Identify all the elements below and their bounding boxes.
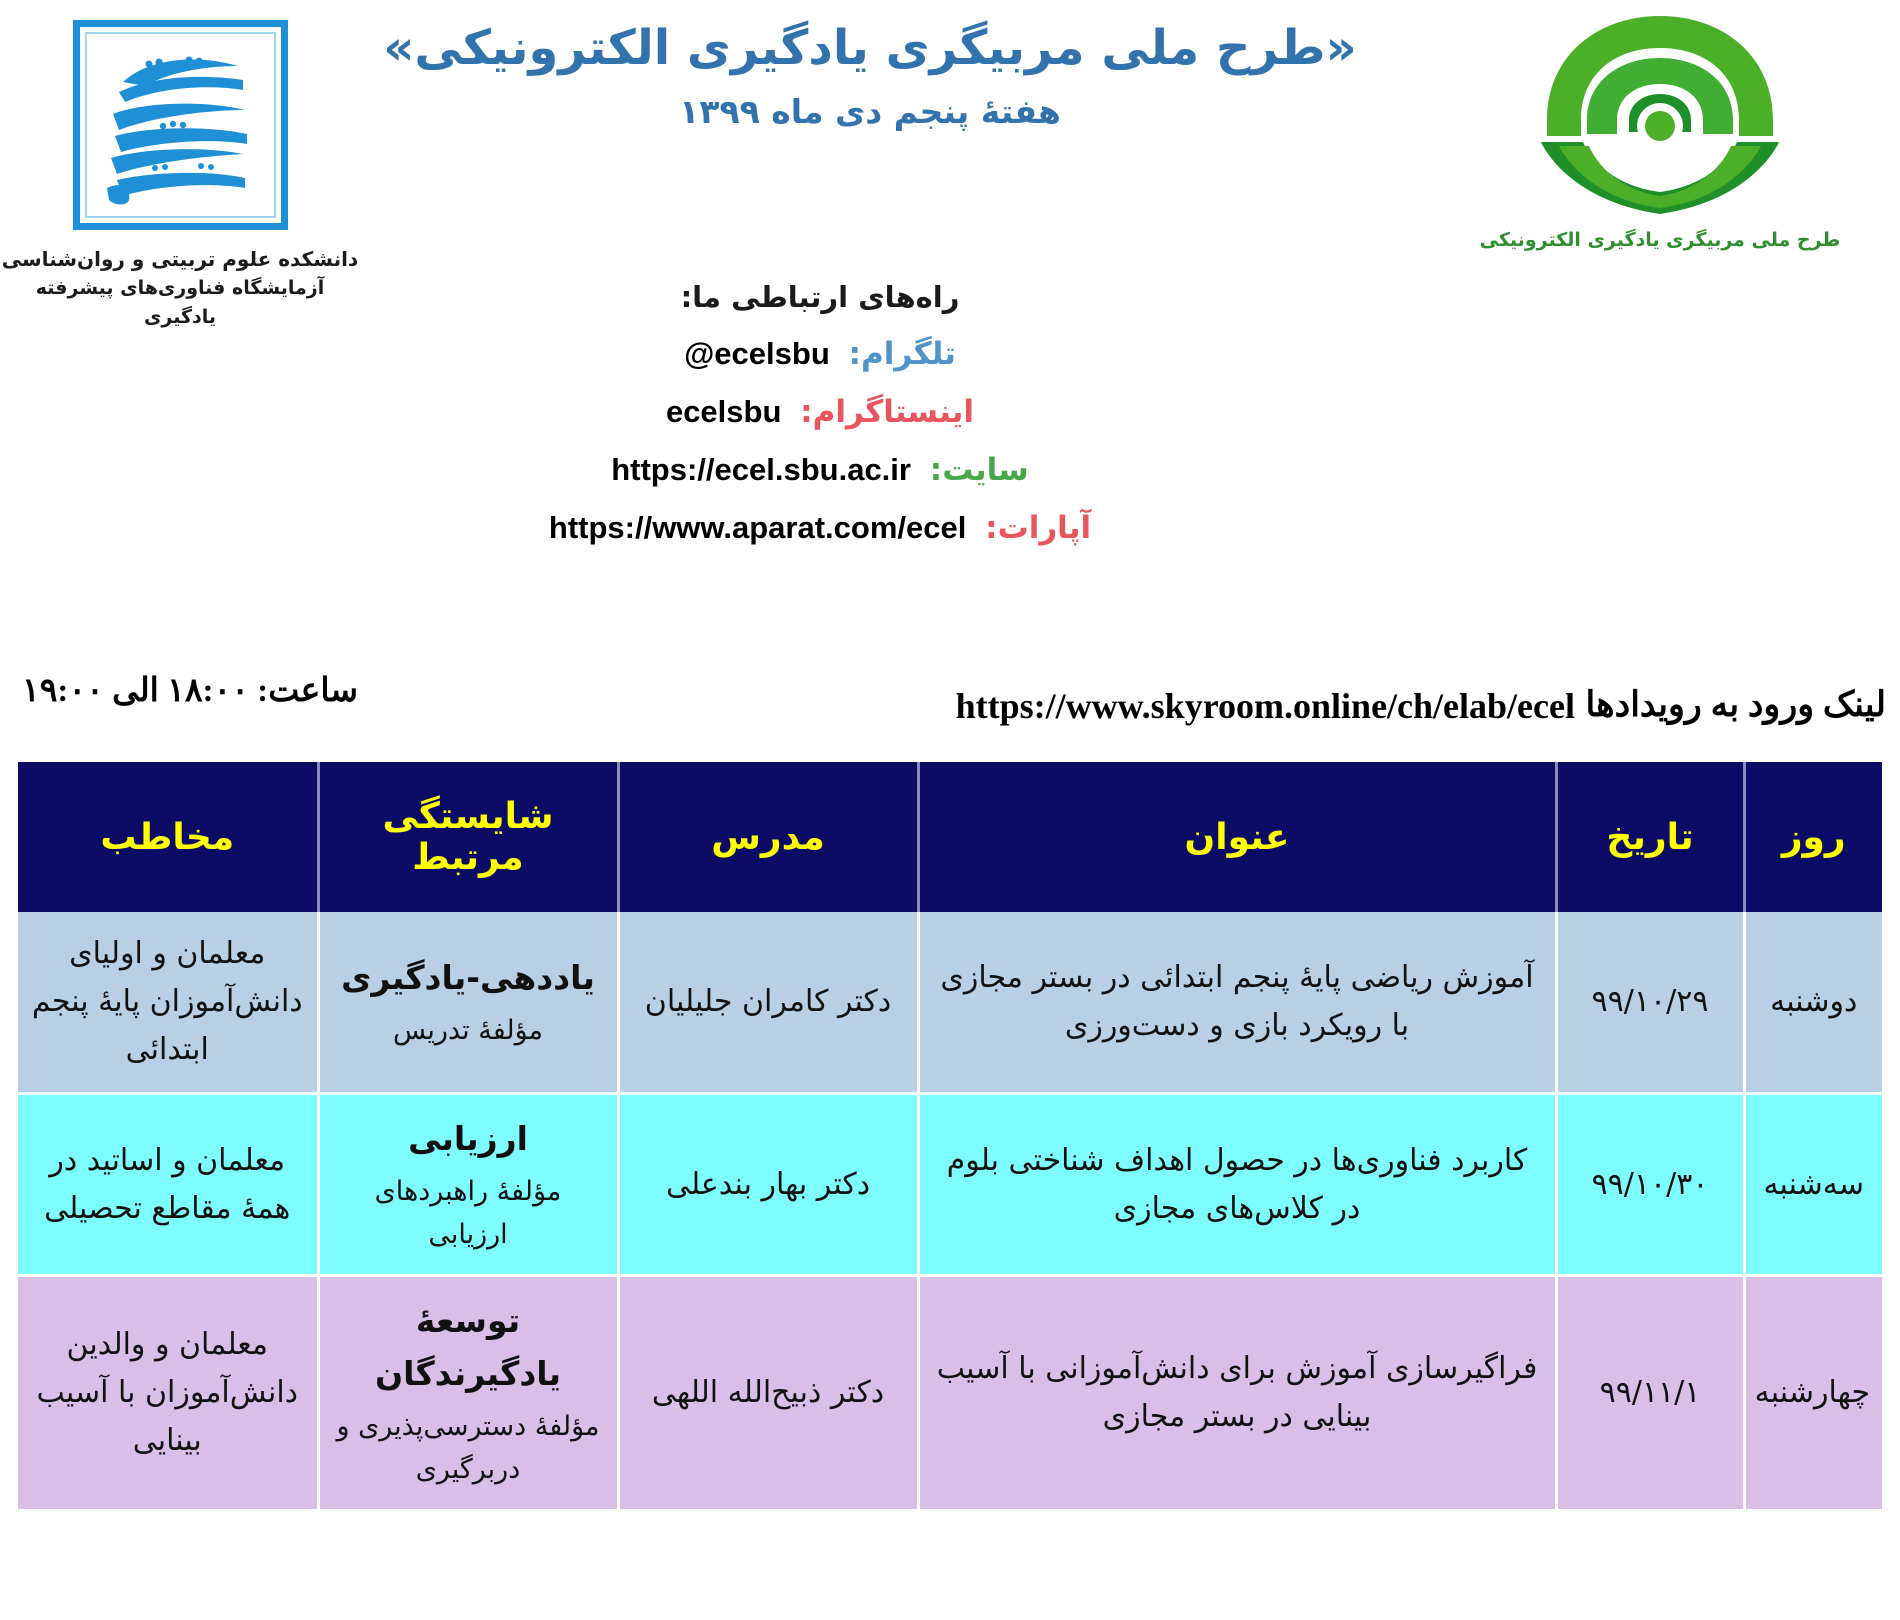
- title-block: «طرح ملی مربیگری یادگیری الکترونیکی» هفت…: [340, 18, 1400, 131]
- column-header-audience: مخاطب: [18, 762, 318, 912]
- shahid-beheshti-university-logo-icon: [73, 20, 288, 230]
- competency-sub: مؤلفهٔ دسترسی‌پذیری و دربرگیری: [332, 1405, 605, 1491]
- website-label: سایت: [942, 452, 1029, 488]
- page-subtitle: هفتهٔ پنجم دی ماه ۱۳۹۹: [340, 92, 1400, 131]
- aparat-url[interactable]: https://www.aparat.com/ecel: [549, 510, 966, 546]
- cell-date: ۹۹/۱۰/۲۹: [1556, 912, 1744, 1094]
- cell-day: دوشنبه: [1744, 912, 1882, 1094]
- competency-sub: مؤلفهٔ راهبردهای ارزیابی: [332, 1170, 605, 1256]
- program-logo-caption: طرح ملی مربیگری یادگیری الکترونیکی: [1430, 229, 1890, 251]
- cell-title: فراگیرسازی آموزش برای دانش‌آموزانی با آس…: [918, 1276, 1556, 1511]
- competency-main: توسعهٔ یادگیرندگان: [332, 1295, 605, 1401]
- cell-date: ۹۹/۱۱/۱: [1556, 1276, 1744, 1511]
- cell-instructor: دکتر بهار بندعلی: [618, 1094, 918, 1276]
- cell-day: چهارشنبه: [1744, 1276, 1882, 1511]
- cell-instructor: دکتر کامران جلیلیان: [618, 912, 918, 1094]
- cell-title: کاربرد فناوری‌ها در حصول اهداف شناختی بل…: [918, 1094, 1556, 1276]
- contact-row-instagram: اینستاگرام: ecelsbu: [0, 394, 1900, 430]
- table-row: چهارشنبه ۹۹/۱۱/۱ فراگیرسازی آموزش برای د…: [18, 1276, 1882, 1511]
- poster-header: دانشکده علوم تربیتی و روان‌شناسی آزمایشگ…: [0, 0, 1900, 560]
- cell-audience: معلمان و اولیای دانش‌آموزان پایهٔ پنجم ا…: [18, 912, 318, 1094]
- instagram-label: اینستاگرام: [813, 394, 974, 430]
- faculty-name: دانشکده علوم تربیتی و روان‌شناسی: [0, 244, 360, 274]
- cell-instructor: دکتر ذبیح‌الله اللهی: [618, 1276, 918, 1511]
- cell-competency: توسعهٔ یادگیرندگان مؤلفهٔ دسترسی‌پذیری و…: [318, 1276, 618, 1511]
- column-header-instructor: مدرس: [618, 762, 918, 912]
- event-link-bar: لینک ورود به رویدادها https://www.skyroo…: [0, 685, 1900, 745]
- cell-title: آموزش ریاضی پایهٔ پنجم ابتدائی در بستر م…: [918, 912, 1556, 1094]
- cell-audience: معلمان و اساتید در همهٔ مقاطع تحصیلی: [18, 1094, 318, 1276]
- page-title: «طرح ملی مربیگری یادگیری الکترونیکی»: [340, 18, 1400, 78]
- events-link-label: لینک ورود به رویدادها: [1585, 685, 1886, 725]
- telegram-label: تلگرام: [861, 336, 956, 372]
- competency-sub: مؤلفهٔ تدریس: [332, 1009, 605, 1052]
- cell-date: ۹۹/۱۰/۳۰: [1556, 1094, 1744, 1276]
- contact-heading: راه‌های ارتباطی ما:: [0, 280, 1900, 314]
- cell-audience: معلمان و والدین دانش‌آموزان با آسیب بینا…: [18, 1276, 318, 1511]
- aparat-label: آپارات: [998, 510, 1092, 546]
- schedule-table: روز تاریخ عنوان مدرس شایستگی مرتبط مخاطب…: [18, 762, 1882, 1512]
- contact-row-aparat: آپارات: https://www.aparat.com/ecel: [0, 510, 1900, 546]
- column-header-competency: شایستگی مرتبط: [318, 762, 618, 912]
- session-time-label: ساعت: ۱۸:۰۰ الی ۱۹:۰۰: [10, 671, 370, 712]
- instagram-handle[interactable]: ecelsbu: [666, 394, 781, 430]
- website-url[interactable]: https://ecel.sbu.ac.ir: [611, 452, 911, 488]
- column-header-day: روز: [1744, 762, 1882, 912]
- program-logo-block: طرح ملی مربیگری یادگیری الکترونیکی: [1430, 8, 1890, 251]
- schedule-table-wrap: روز تاریخ عنوان مدرس شایستگی مرتبط مخاطب…: [18, 762, 1882, 1512]
- competency-main: یاددهی-یادگیری: [332, 952, 605, 1005]
- cell-competency: ارزیابی مؤلفهٔ راهبردهای ارزیابی: [318, 1094, 618, 1276]
- competency-main: ارزیابی: [332, 1113, 605, 1166]
- column-header-date: تاریخ: [1556, 762, 1744, 912]
- table-row: سه‌شنبه ۹۹/۱۰/۳۰ کاربرد فناوری‌ها در حصو…: [18, 1094, 1882, 1276]
- events-link-url[interactable]: https://www.skyroom.online/ch/elab/ecel: [956, 685, 1575, 727]
- ecel-program-logo-icon: [1525, 8, 1795, 223]
- cell-day: سه‌شنبه: [1744, 1094, 1882, 1276]
- contact-row-website: سایت: https://ecel.sbu.ac.ir: [0, 452, 1900, 488]
- contact-block: راه‌های ارتباطی ما: تلگرام: @ecelsbu این…: [0, 280, 1900, 568]
- contact-row-telegram: تلگرام: @ecelsbu: [0, 336, 1900, 372]
- cell-competency: یاددهی-یادگیری مؤلفهٔ تدریس: [318, 912, 618, 1094]
- column-header-title: عنوان: [918, 762, 1556, 912]
- table-row: دوشنبه ۹۹/۱۰/۲۹ آموزش ریاضی پایهٔ پنجم ا…: [18, 912, 1882, 1094]
- telegram-handle[interactable]: @ecelsbu: [684, 336, 830, 372]
- table-header-row: روز تاریخ عنوان مدرس شایستگی مرتبط مخاطب: [18, 762, 1882, 912]
